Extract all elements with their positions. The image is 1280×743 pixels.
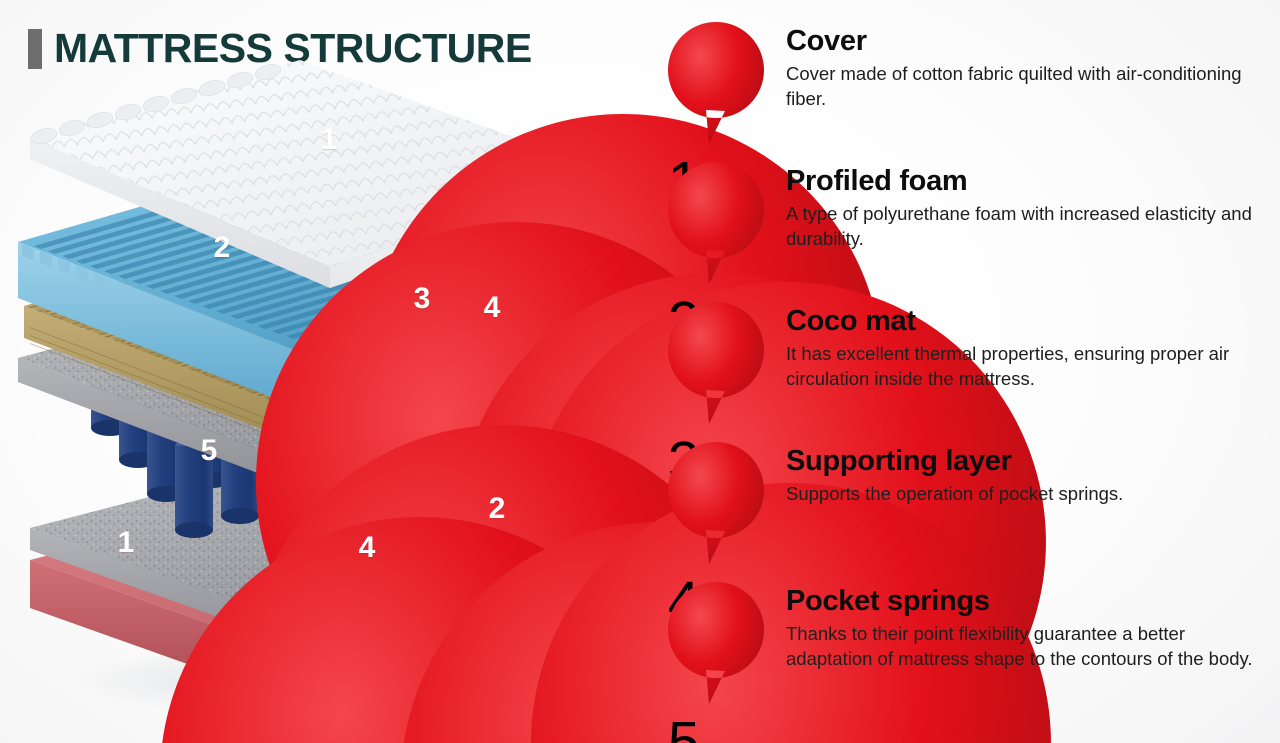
callout-pin-profiled-foam[interactable]: 2 — [196, 222, 248, 288]
list-item-description: Supports the operation of pocket springs… — [786, 482, 1270, 507]
list-item-text: Profiled foam A type of polyurethane foa… — [786, 162, 1270, 251]
list-item-text: Pocket springs Thanks to their point fle… — [786, 582, 1270, 671]
pin-shape — [668, 22, 764, 144]
list-item-title: Coco mat — [786, 306, 1270, 338]
list-item-title: Pocket springs — [786, 586, 1270, 618]
callout-pin-supporting-layer-lower[interactable]: 4 — [341, 522, 393, 588]
list-item-supporting-layer[interactable]: 4 Supporting layer Supports the operatio… — [668, 442, 1270, 564]
list-item-text: Cover Cover made of cotton fabric quilte… — [786, 22, 1270, 111]
list-item-pocket-springs[interactable]: 5 Pocket springs Thanks to their point f… — [668, 582, 1270, 704]
list-item-text: Supporting layer Supports the operation … — [786, 442, 1270, 507]
list-item-title: Supporting layer — [786, 446, 1270, 478]
pin-shape — [668, 442, 764, 564]
list-item-cover[interactable]: 1 Cover Cover made of cotton fabric quil… — [668, 22, 1270, 144]
list-item-profiled-foam[interactable]: 2 Profiled foam A type of polyurethane f… — [668, 162, 1270, 284]
infographic-page: MATTRESS STRUCTURE — [0, 0, 1280, 743]
callout-pin-cover[interactable]: 1 — [303, 114, 355, 180]
legend-list: 1 Cover Cover made of cotton fabric quil… — [668, 0, 1280, 743]
list-item-description: A type of polyurethane foam with increas… — [786, 202, 1270, 252]
list-item-text: Coco mat It has excellent thermal proper… — [786, 302, 1270, 391]
list-item-coco-mat[interactable]: 3 Coco mat It has excellent thermal prop… — [668, 302, 1270, 424]
list-item-title: Cover — [786, 26, 1270, 58]
callout-pin-springs-gray[interactable]: 2 — [471, 483, 523, 549]
list-item-description: Cover made of cotton fabric quilted with… — [786, 62, 1270, 112]
callout-pin-pocket-springs[interactable]: 5 — [183, 425, 235, 491]
pin-shape — [668, 582, 764, 704]
pin-shape — [668, 162, 764, 284]
legend-pin-1[interactable]: 1 — [668, 22, 764, 144]
list-item-description: Thanks to their point flexibility guaran… — [786, 622, 1270, 672]
callout-pin-base-foam[interactable]: 1 — [100, 517, 152, 583]
legend-pin-4[interactable]: 4 — [668, 442, 764, 564]
callout-pin-coco-mat[interactable]: 3 — [396, 273, 448, 339]
pin-shape — [668, 302, 764, 424]
callout-pin-supporting-layer-upper[interactable]: 4 — [466, 282, 518, 348]
legend-pin-2[interactable]: 2 — [668, 162, 764, 284]
legend-pin-5[interactable]: 5 — [668, 582, 764, 704]
legend-pin-number: 5 — [668, 709, 764, 743]
mattress-exploded-illustration: 1 2 3 4 5 — [0, 60, 640, 720]
list-item-title: Profiled foam — [786, 166, 1270, 198]
list-item-description: It has excellent thermal properties, ens… — [786, 342, 1270, 392]
legend-pin-3[interactable]: 3 — [668, 302, 764, 424]
